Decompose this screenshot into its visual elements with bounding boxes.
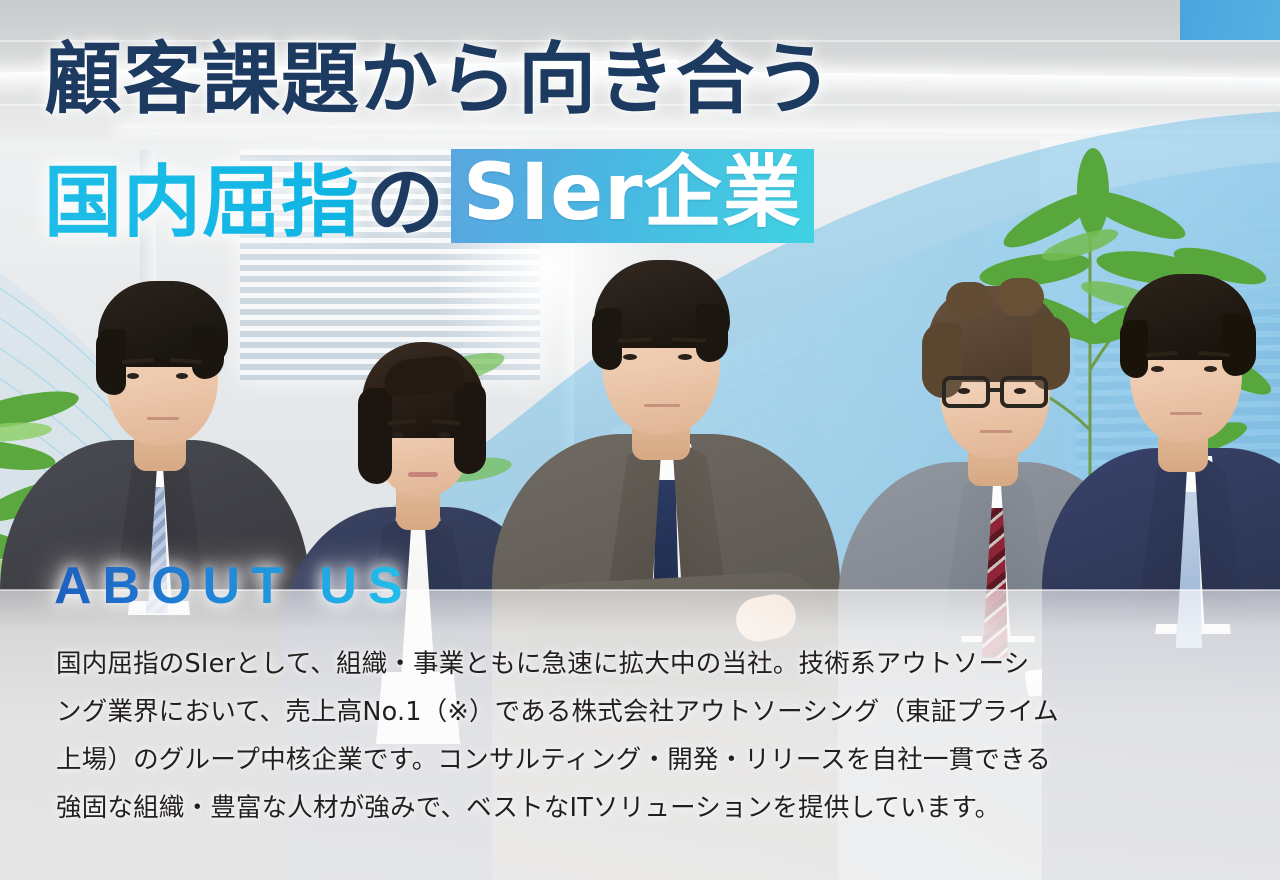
about-paragraph-line: 上場）のグループ中核企業です。コンサルティング・開発・リリースを自社一貫できる	[56, 736, 1236, 784]
about-paragraph: 国内屈指のSIerとして、組織・事業ともに急速に拡大中の当社。技術系アウトソーシ…	[56, 640, 1236, 832]
about-paragraph-line: ング業界において、売上高No.1（※）である株式会社アウトソーシング（東証プライ…	[56, 688, 1236, 736]
hero-headline-line-1: 顧客課題から向き合う	[44, 17, 834, 129]
blue-poster	[1180, 0, 1280, 40]
about-us-heading: ABOUT US	[54, 556, 414, 616]
headline-particle-no: の	[360, 140, 451, 252]
headline-cyan-text: 国内屈指	[44, 140, 360, 252]
hero-banner: 顧客課題から向き合う 国内屈指 の SIer企業 ABOUT US 国内屈指のS…	[0, 0, 1280, 880]
about-paragraph-line: 強固な組織・豊富な人材が強みで、ベストなITソリューションを提供しています。	[56, 784, 1236, 832]
about-paragraph-line: 国内屈指のSIerとして、組織・事業ともに急速に拡大中の当社。技術系アウトソーシ	[56, 640, 1236, 688]
hero-headline-line-2: 国内屈指 の SIer企業	[44, 140, 814, 252]
headline-highlight-box: SIer企業	[451, 149, 814, 243]
